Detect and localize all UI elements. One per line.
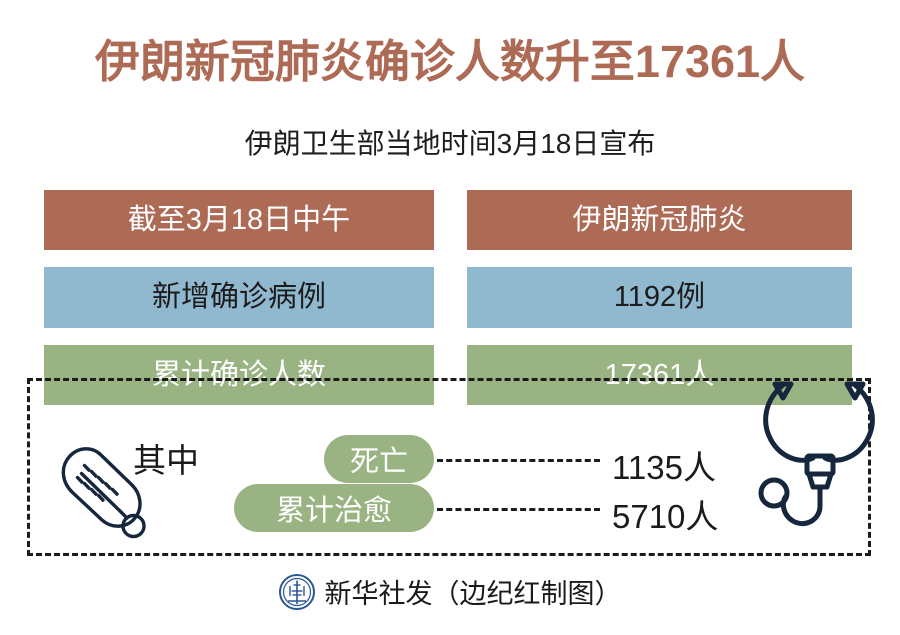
row-label-text: 新增确诊病例 — [152, 283, 326, 312]
breakdown-value-recovered: 5710人 — [612, 490, 718, 538]
credit-text: 新华社发（边纪红制图） — [325, 572, 622, 611]
xinhua-logo-icon — [279, 574, 315, 610]
row-value-text: 伊朗新冠肺炎 — [572, 206, 746, 235]
breakdown-pill-deaths: 死亡 — [324, 435, 434, 483]
connector-line-deaths — [437, 459, 600, 462]
pill-label-text: 累计治愈 — [276, 487, 392, 529]
breakdown-pill-recovered: 累计治愈 — [234, 484, 434, 532]
breakdown-prefix-label: 其中 — [133, 434, 199, 482]
table-row-new-cases-label: 新增确诊病例 — [44, 267, 434, 328]
credit-line: 新华社发（边纪红制图） — [0, 572, 900, 611]
page-subtitle: 伊朗卫生部当地时间3月18日宣布 — [0, 126, 900, 162]
page-title: 伊朗新冠肺炎确诊人数升至17361人 — [0, 34, 900, 90]
row-label-text: 截至3月18日中午 — [128, 206, 350, 235]
infographic-canvas: 伊朗新冠肺炎确诊人数升至17361人 伊朗卫生部当地时间3月18日宣布 截至3月… — [0, 0, 900, 635]
row-value-text: 1192例 — [614, 283, 705, 312]
table-row-new-cases-value: 1192例 — [467, 267, 852, 328]
pill-label-text: 死亡 — [350, 438, 408, 480]
table-row-header-value: 伊朗新冠肺炎 — [467, 190, 852, 250]
stethoscope-icon — [755, 360, 885, 530]
breakdown-value-deaths: 1135人 — [612, 441, 716, 489]
connector-line-recovered — [437, 508, 600, 511]
table-row-header-label: 截至3月18日中午 — [44, 190, 434, 250]
